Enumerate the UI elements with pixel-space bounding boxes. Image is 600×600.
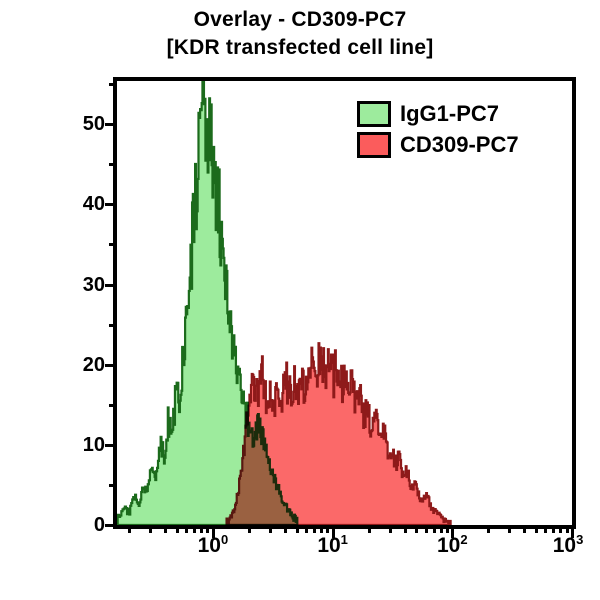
x-tick-minor-80 (440, 525, 443, 533)
x-tick-label-1e3: 103 (523, 534, 600, 558)
x-tick-minor-300 (508, 525, 511, 533)
x-tick-minor-40 (404, 525, 407, 533)
x-tick-label-1e1: 101 (288, 534, 378, 558)
x-tick-minor-0.30000000000000004 (149, 525, 152, 533)
y-axis-title: SS INT (0, 128, 3, 248)
x-tick-minor-0.7000000000000001 (193, 525, 196, 533)
y-tick-minor-45 (109, 163, 117, 166)
legend-swatch-cd309 (357, 132, 391, 158)
legend-label-igg1: IgG1-PC7 (400, 101, 499, 127)
y-tick-minor-5 (109, 484, 117, 487)
x-tick-minor-5 (296, 525, 299, 533)
y-tick-major-40 (105, 203, 117, 206)
y-tick-label-20: 20 (59, 355, 105, 375)
x-tick-minor-200 (487, 525, 490, 533)
y-tick-major-50 (105, 123, 117, 126)
x-tick-minor-900 (566, 525, 569, 533)
x-tick-minor-500 (535, 525, 538, 533)
x-tick-minor-0.2 (128, 525, 131, 533)
series-cd309-pc7 (227, 343, 451, 525)
y-tick-minor-25 (109, 324, 117, 327)
y-axis-tick-labels: 01020304050 (57, 0, 105, 600)
y-tick-minor-35 (109, 243, 117, 246)
x-tick-minor-700 (552, 525, 555, 533)
x-tick-minor-800 (559, 525, 562, 533)
x-tick-minor-4 (284, 525, 287, 533)
histogram-area-cd309-pc7 (227, 343, 451, 525)
flow-cytometry-chart: Overlay - CD309-PC7 [KDR transfected cel… (0, 0, 600, 600)
x-tick-minor-70 (433, 525, 436, 533)
x-tick-label-1e2: 102 (407, 534, 497, 558)
y-tick-major-20 (105, 364, 117, 367)
x-tick-minor-8 (320, 525, 323, 533)
x-tick-minor-600 (544, 525, 547, 533)
y-tick-major-0 (105, 524, 117, 527)
x-tick-minor-400 (523, 525, 526, 533)
y-tick-major-30 (105, 284, 117, 287)
y-tick-minor-55 (109, 83, 117, 86)
x-tick-minor-0.4 (164, 525, 167, 533)
x-tick-minor-60 (425, 525, 428, 533)
x-tick-minor-90 (446, 525, 449, 533)
x-tick-minor-2 (248, 525, 251, 533)
legend-item-1[interactable]: CD309-PC7 (357, 129, 557, 160)
y-tick-label-50: 50 (59, 114, 105, 134)
y-tick-label-40: 40 (59, 194, 105, 214)
y-tick-minor-15 (109, 404, 117, 407)
y-tick-major-10 (105, 444, 117, 447)
legend-label-cd309: CD309-PC7 (400, 132, 519, 158)
x-tick-minor-9 (326, 525, 329, 533)
x-tick-minor-50 (415, 525, 418, 533)
x-tick-minor-0.9 (206, 525, 209, 533)
x-tick-minor-0.5 (176, 525, 179, 533)
x-axis-tick-labels: 100101102103 (113, 534, 572, 574)
legend-swatch-igg1 (357, 101, 391, 127)
x-tick-minor-0.6000000000000001 (185, 525, 188, 533)
x-tick-minor-6 (305, 525, 308, 533)
y-tick-label-10: 10 (59, 435, 105, 455)
x-tick-minor-20 (368, 525, 371, 533)
x-tick-minor-0.8 (200, 525, 203, 533)
x-tick-minor-7 (313, 525, 316, 533)
x-tick-minor-30 (389, 525, 392, 533)
legend-item-0[interactable]: IgG1-PC7 (357, 98, 557, 129)
x-tick-minor-3 (269, 525, 272, 533)
x-tick-label-1e0: 100 (168, 534, 258, 558)
y-tick-label-30: 30 (59, 275, 105, 295)
y-tick-label-0: 0 (59, 515, 105, 535)
legend: IgG1-PC7 CD309-PC7 (357, 98, 557, 160)
